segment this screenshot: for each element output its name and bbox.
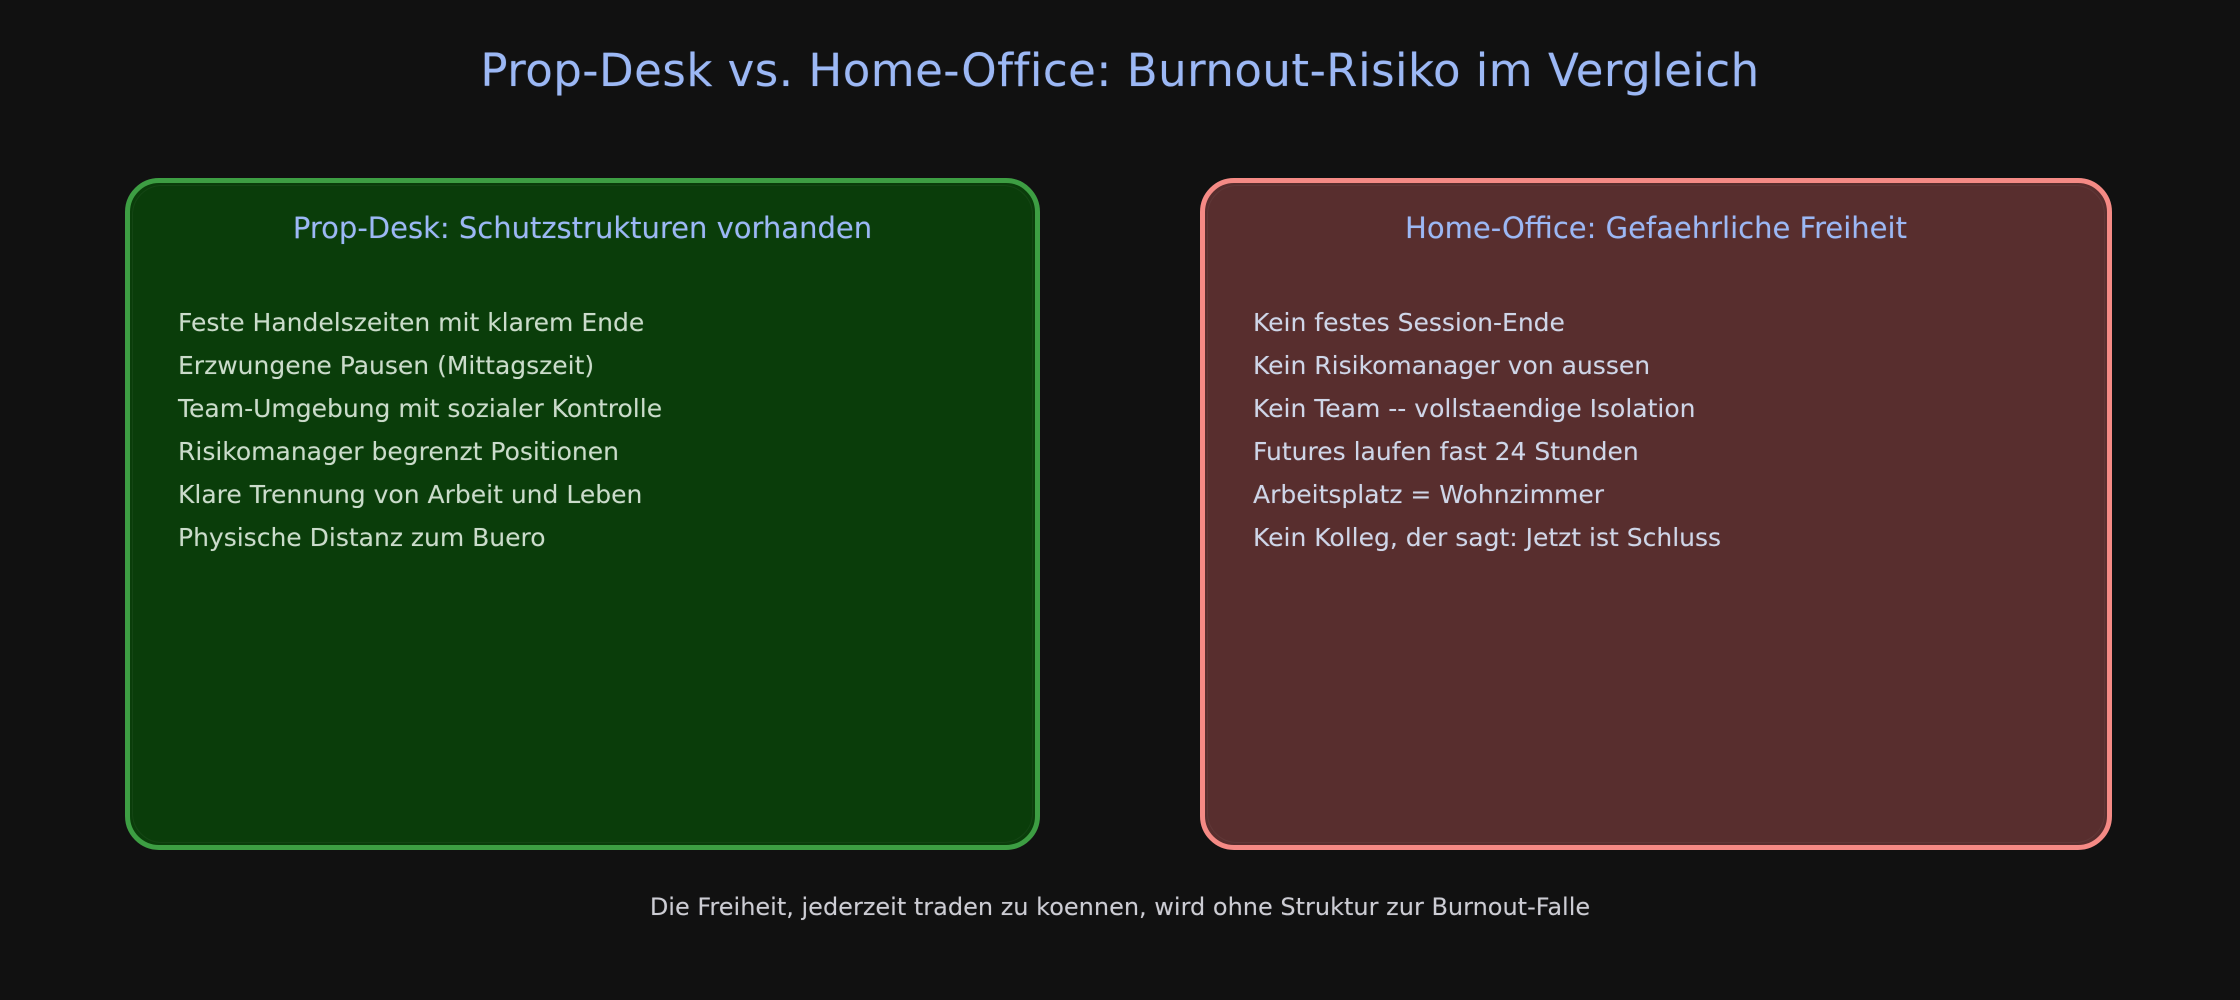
list-item: Futures laufen fast 24 Stunden [1253, 430, 2083, 473]
panel-home-office: Home-Office: Gefaehrliche Freiheit Kein … [1200, 178, 2112, 850]
list-item: Kein festes Session-Ende [1253, 301, 2083, 344]
list-item: Kein Team -- vollstaendige Isolation [1253, 387, 2083, 430]
panel-right-list: Kein festes Session-Ende Kein Risikomana… [1253, 301, 2083, 559]
list-item: Kein Risikomanager von aussen [1253, 344, 2083, 387]
list-item: Team-Umgebung mit sozialer Kontrolle [178, 387, 1011, 430]
panel-left-header: Prop-Desk: Schutzstrukturen vorhanden [130, 211, 1035, 245]
list-item: Arbeitsplatz = Wohnzimmer [1253, 473, 2083, 516]
footer-caption: Die Freiheit, jederzeit traden zu koenne… [0, 893, 2240, 921]
list-item: Kein Kolleg, der sagt: Jetzt ist Schluss [1253, 516, 2083, 559]
panel-prop-desk: Prop-Desk: Schutzstrukturen vorhanden Fe… [125, 178, 1040, 850]
list-item: Physische Distanz zum Buero [178, 516, 1011, 559]
list-item: Klare Trennung von Arbeit und Leben [178, 473, 1011, 516]
list-item: Erzwungene Pausen (Mittagszeit) [178, 344, 1011, 387]
panel-right-header: Home-Office: Gefaehrliche Freiheit [1205, 211, 2107, 245]
figure-canvas: Prop-Desk vs. Home-Office: Burnout-Risik… [0, 0, 2240, 1000]
list-item: Feste Handelszeiten mit klarem Ende [178, 301, 1011, 344]
list-item: Risikomanager begrenzt Positionen [178, 430, 1011, 473]
page-title: Prop-Desk vs. Home-Office: Burnout-Risik… [0, 44, 2240, 97]
panel-left-list: Feste Handelszeiten mit klarem Ende Erzw… [178, 301, 1011, 559]
